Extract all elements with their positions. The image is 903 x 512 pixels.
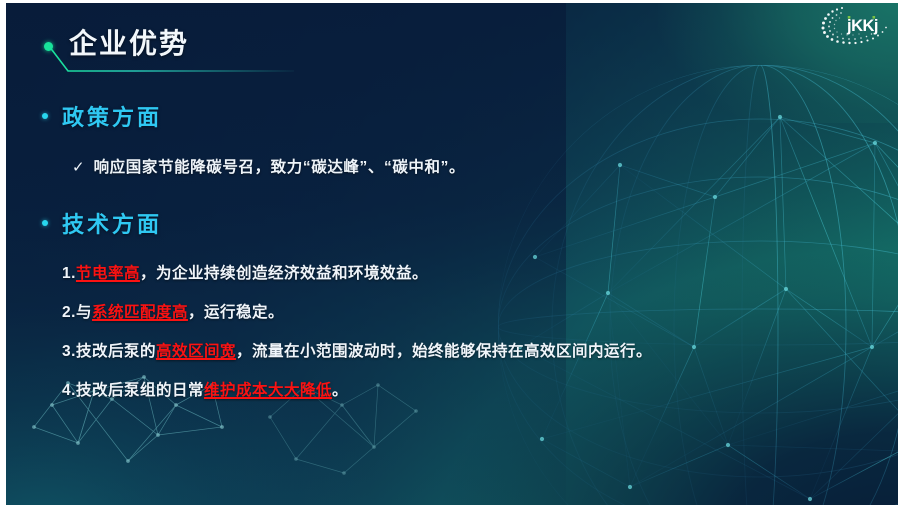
section-heading-label: 技术方面 [62, 207, 162, 239]
list-item-text: 与 [76, 304, 92, 321]
list-item-marker: 1. [62, 265, 76, 282]
list-item-highlight: 高效区间宽 [156, 343, 236, 360]
section-heading-policy: 政策方面 [34, 100, 864, 132]
list-item: 3.技改后泵的高效区间宽，流量在小范围波动时，始终能够保持在高效区间内运行。 [62, 339, 864, 361]
list-item: 4.技改后泵组的日常维护成本大大降低。 [62, 378, 864, 400]
dot-bullet-icon [42, 220, 48, 226]
check-icon: ✓ [72, 160, 85, 175]
page-title: 企业优势 [69, 30, 189, 58]
section-heading-technology: 技术方面 [34, 207, 864, 239]
logo-wordmark: jKKj [846, 16, 878, 35]
slide: jKKj 企业优势 政策方面 ✓ 响应国家节能 [0, 0, 903, 512]
list-item: ✓ 响应国家节能降碳号召，致力“碳达峰”、“碳中和”。 [72, 155, 864, 177]
list-item: 2.与系统匹配度高，运行稳定。 [62, 300, 864, 322]
list-item-marker: 4. [62, 382, 76, 399]
page-title-block: 企业优势 [44, 30, 189, 58]
list-item-text: 技改后泵组的日常 [76, 382, 204, 399]
list-item-highlight: 节电率高 [76, 265, 140, 282]
numbered-list: 1.节电率高，为企业持续创造经济效益和环境效益。 2.与系统匹配度高，运行稳定。… [62, 261, 864, 400]
list-item: 1.节电率高，为企业持续创造经济效益和环境效益。 [62, 261, 864, 283]
list-item-marker: 2. [62, 304, 76, 321]
section-heading-label: 政策方面 [62, 100, 162, 132]
list-item-marker: 3. [62, 343, 76, 360]
list-item-highlight: 系统匹配度高 [92, 304, 188, 321]
slide-content: 政策方面 ✓ 响应国家节能降碳号召，致力“碳达峰”、“碳中和”。 技术方面 1.… [34, 100, 864, 417]
list-item-highlight: 维护成本大大降低 [204, 382, 332, 399]
dot-bullet-icon [42, 113, 48, 119]
list-item-text: 技改后泵的 [76, 343, 156, 360]
list-item-text: ，流量在小范围波动时，始终能够保持在高效区间内运行。 [236, 343, 652, 360]
list-item-text: ，运行稳定。 [188, 304, 284, 321]
list-item-text: 响应国家节能降碳号召，致力“碳达峰”、“碳中和”。 [94, 155, 466, 177]
svg-text:jKKj: jKKj [846, 17, 878, 35]
jkkj-logo: jKKj [817, 4, 891, 46]
list-item-text: 。 [332, 382, 348, 399]
list-item-text: ，为企业持续创造经济效益和环境效益。 [140, 265, 428, 282]
